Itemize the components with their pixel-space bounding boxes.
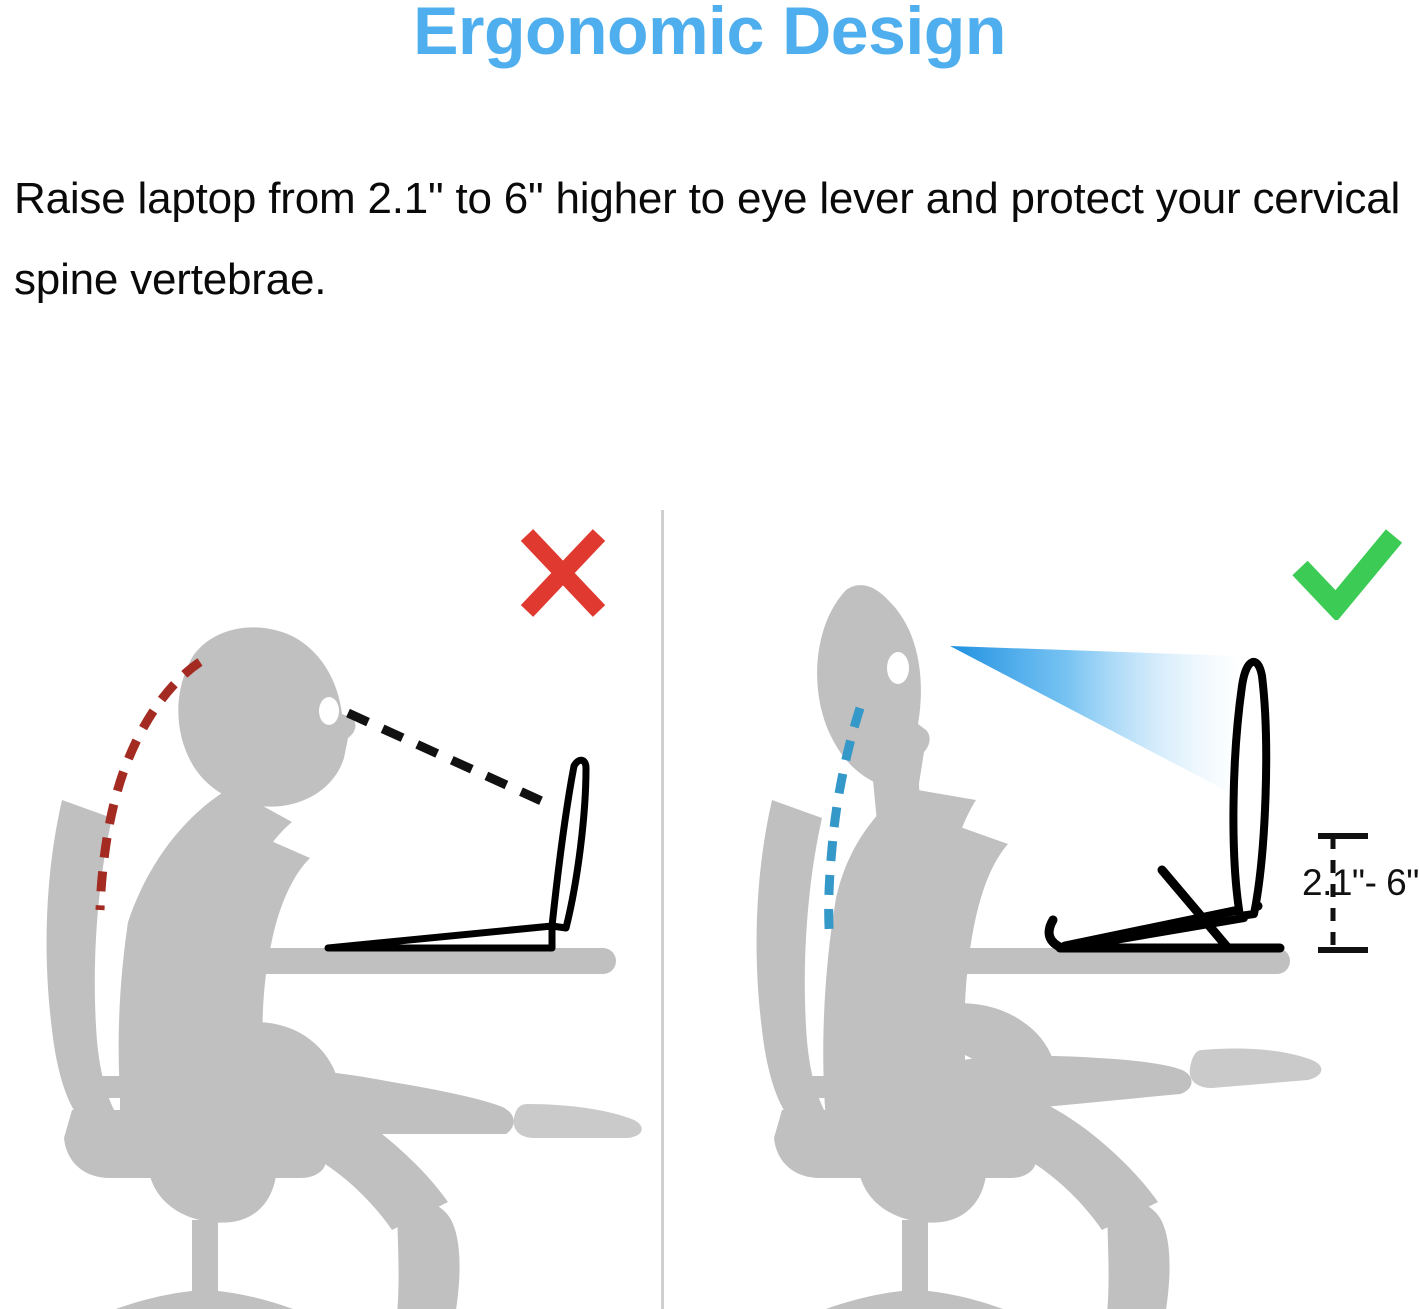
red-x-mark <box>515 525 611 621</box>
right-figure-group <box>740 585 1368 1309</box>
chair-hub-left <box>150 1176 276 1223</box>
left-figure-group <box>30 627 642 1309</box>
chair-hub-right <box>860 1176 986 1223</box>
chair-base-left <box>30 1290 378 1309</box>
page-title: Ergonomic Design <box>0 0 1419 69</box>
laptop-screen-right <box>1233 662 1266 916</box>
green-check-mark <box>1292 528 1402 620</box>
laptop-base-left <box>328 926 552 948</box>
vision-cone <box>950 646 1244 800</box>
sight-line-left <box>348 713 546 803</box>
infographic-page: Ergonomic Design Raise laptop from 2.1" … <box>0 0 1419 1309</box>
chair-base-right <box>740 1290 1088 1309</box>
hand-right <box>1190 1048 1322 1088</box>
check-icon <box>1300 536 1394 606</box>
x-icon <box>527 535 599 611</box>
eye-right <box>887 652 909 684</box>
laptop-screen-left <box>552 760 586 928</box>
stand-front-lip <box>1049 920 1062 948</box>
head-right <box>817 585 930 790</box>
hand-left <box>514 1104 642 1138</box>
desk-left <box>232 948 616 974</box>
comparison-illustration <box>0 470 1419 1309</box>
height-range-label: 2.1"- 6" <box>1302 862 1419 904</box>
eye-left <box>319 697 339 725</box>
stand-support-strut <box>1162 870 1228 948</box>
page-description: Raise laptop from 2.1" to 6" higher to e… <box>14 158 1404 321</box>
